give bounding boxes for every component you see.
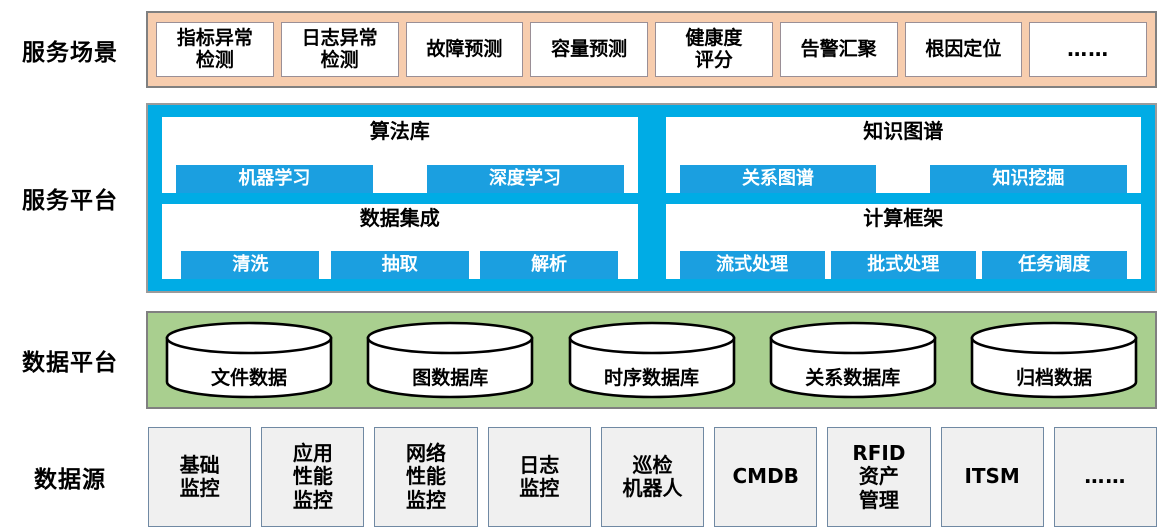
chip-list-data-integration: 清洗 抽取 解析 — [162, 251, 638, 279]
source-card-application-performance-monitoring[interactable]: 应用性能监控 — [261, 427, 364, 527]
source-card-itsm[interactable]: ITSM — [941, 427, 1044, 527]
panel-title-data-integration: 数据集成 — [360, 207, 440, 230]
source-card-log-monitoring[interactable]: 日志监控 — [488, 427, 591, 527]
data-store-relational-database[interactable]: 关系数据库 — [768, 321, 938, 399]
chip-list-computing-framework: 流式处理 批式处理 任务调度 — [666, 251, 1142, 279]
source-card-network-performance-monitoring[interactable]: 网络性能监控 — [374, 427, 477, 527]
service-platform-band: 算法库 机器学习 深度学习 知识图谱 关系图谱 知识挖掘 数据集成 清洗 抽取 — [146, 103, 1157, 293]
chip-deep-learning[interactable]: 深度学习 — [427, 165, 624, 193]
row-label-service-scenario: 服务场景 — [0, 11, 140, 88]
chip-machine-learning[interactable]: 机器学习 — [176, 165, 373, 193]
source-card-infrastructure-monitoring[interactable]: 基础监控 — [148, 427, 251, 527]
data-store-list: 文件数据 图数据库 时序数据库 — [148, 313, 1155, 407]
chip-batch-processing[interactable]: 批式处理 — [831, 251, 976, 279]
data-platform-band: 文件数据 图数据库 时序数据库 — [146, 311, 1157, 409]
chip-cleansing[interactable]: 清洗 — [181, 251, 319, 279]
data-store-label: 时序数据库 — [567, 363, 737, 390]
panel-algorithm-library: 算法库 机器学习 深度学习 — [162, 117, 638, 193]
scenario-card-root-cause[interactable]: 根因定位 — [905, 22, 1023, 77]
panel-title-computing-framework: 计算框架 — [863, 207, 943, 230]
data-store-label: 关系数据库 — [768, 363, 938, 390]
scenario-card-log-anomaly[interactable]: 日志异常检测 — [281, 22, 399, 77]
data-store-label: 归档数据 — [969, 363, 1139, 390]
source-card-cmdb[interactable]: CMDB — [714, 427, 817, 527]
chip-task-scheduling[interactable]: 任务调度 — [982, 251, 1127, 279]
scenario-card-metric-anomaly[interactable]: 指标异常检测 — [156, 22, 274, 77]
chip-stream-processing[interactable]: 流式处理 — [680, 251, 825, 279]
data-store-timeseries-database[interactable]: 时序数据库 — [567, 321, 737, 399]
panel-knowledge-graph: 知识图谱 关系图谱 知识挖掘 — [666, 117, 1142, 193]
panel-data-integration: 数据集成 清洗 抽取 解析 — [162, 204, 638, 280]
data-store-file-data[interactable]: 文件数据 — [164, 321, 334, 399]
chip-list-knowledge-graph: 关系图谱 知识挖掘 — [666, 165, 1142, 193]
row-label-service-platform: 服务平台 — [0, 103, 140, 293]
chip-extraction[interactable]: 抽取 — [331, 251, 469, 279]
scenario-card-health-score[interactable]: 健康度评分 — [655, 22, 773, 77]
chip-relation-graph[interactable]: 关系图谱 — [680, 165, 877, 193]
data-store-label: 图数据库 — [365, 363, 535, 390]
row-label-data-platform: 数据平台 — [0, 311, 140, 409]
scenario-card-more[interactable]: …… — [1029, 22, 1147, 77]
chip-list-algorithm-library: 机器学习 深度学习 — [162, 165, 638, 193]
architecture-diagram: 服务场景 服务平台 数据平台 数据源 指标异常检测 日志异常检测 故障预测 容量… — [0, 0, 1159, 530]
service-scenario-band: 指标异常检测 日志异常检测 故障预测 容量预测 健康度评分 告警汇聚 根因定位 … — [146, 11, 1157, 88]
panel-computing-framework: 计算框架 流式处理 批式处理 任务调度 — [666, 204, 1142, 280]
data-store-graph-database[interactable]: 图数据库 — [365, 321, 535, 399]
data-store-label: 文件数据 — [164, 363, 334, 390]
scenario-card-alarm-aggregation[interactable]: 告警汇聚 — [780, 22, 898, 77]
scenario-card-fault-prediction[interactable]: 故障预测 — [406, 22, 524, 77]
panel-title-algorithm-library: 算法库 — [370, 120, 430, 143]
source-card-inspection-robot[interactable]: 巡检机器人 — [601, 427, 704, 527]
data-store-archive-data[interactable]: 归档数据 — [969, 321, 1139, 399]
row-label-data-source: 数据源 — [0, 427, 140, 527]
service-scenario-card-list: 指标异常检测 日志异常检测 故障预测 容量预测 健康度评分 告警汇聚 根因定位 … — [148, 13, 1155, 86]
source-card-rfid-asset-management[interactable]: RFID资产管理 — [827, 427, 930, 527]
data-source-card-list: 基础监控 应用性能监控 网络性能监控 日志监控 巡检机器人 CMDB RFID资… — [148, 427, 1157, 527]
chip-parsing[interactable]: 解析 — [480, 251, 618, 279]
service-platform-panel-grid: 算法库 机器学习 深度学习 知识图谱 关系图谱 知识挖掘 数据集成 清洗 抽取 — [148, 105, 1155, 291]
source-card-more[interactable]: …… — [1054, 427, 1157, 527]
panel-title-knowledge-graph: 知识图谱 — [863, 120, 943, 143]
chip-knowledge-mining[interactable]: 知识挖掘 — [930, 165, 1127, 193]
scenario-card-capacity-prediction[interactable]: 容量预测 — [530, 22, 648, 77]
